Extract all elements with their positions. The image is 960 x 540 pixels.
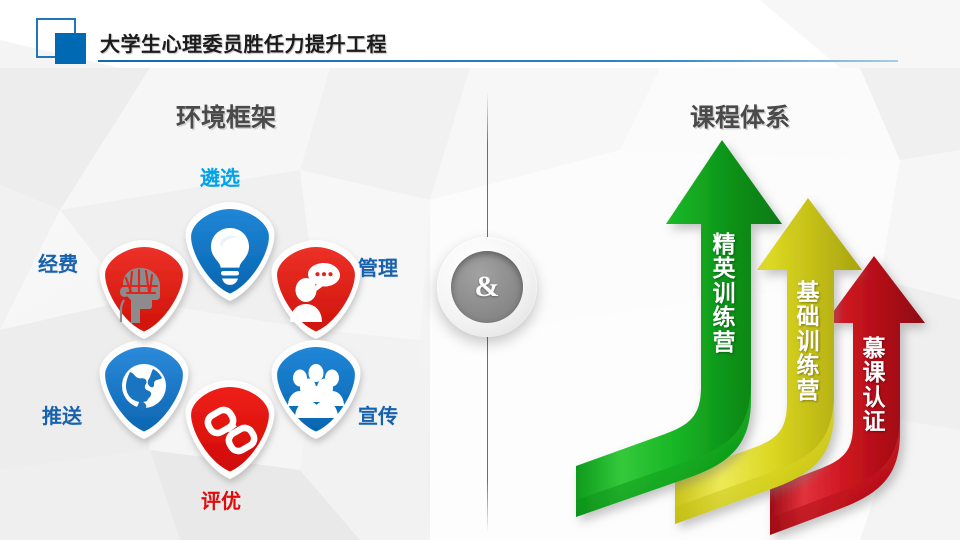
slide-canvas: 大学生心理委员胜任力提升工程 环境框架 课程体系 & bbox=[0, 0, 960, 540]
shield-label-jing-fei: 经费 bbox=[38, 248, 78, 277]
shield-label-guan-li: 管理 bbox=[358, 252, 398, 281]
shield-lin-xuan[interactable] bbox=[182, 200, 278, 296]
logo-solid-square bbox=[55, 33, 86, 64]
slide-header: 大学生心理委员胜任力提升工程 bbox=[0, 0, 960, 68]
left-section-heading: 环境框架 bbox=[176, 98, 276, 134]
arrow-label-ji-chu-xun-lian-ying: 基础训练营 bbox=[794, 280, 822, 402]
shield-label-xuan-chuan: 宣传 bbox=[358, 400, 398, 429]
shield-guan-li[interactable] bbox=[268, 238, 364, 334]
shield-ping-you[interactable] bbox=[182, 378, 278, 474]
shield-label-tui-song: 推送 bbox=[42, 400, 82, 429]
arrow-label-jing-ying-xun-lian-ying: 精英训练营 bbox=[710, 232, 738, 354]
shield-xuan-chuan[interactable] bbox=[268, 338, 364, 434]
shield-jing-fei[interactable] bbox=[96, 238, 192, 334]
shield-label-lin-xuan: 遴选 bbox=[200, 162, 240, 191]
shield-label-ping-you: 评优 bbox=[201, 485, 241, 514]
title-underline-rule bbox=[98, 60, 898, 62]
page-title: 大学生心理委员胜任力提升工程 bbox=[100, 28, 387, 57]
curved-arrows-group: 精英训练营 基础训练营 慕课认证 bbox=[470, 80, 960, 540]
arrow-label-mu-ke-ren-zheng: 慕课认证 bbox=[860, 336, 888, 434]
shield-tui-song[interactable] bbox=[96, 338, 192, 434]
